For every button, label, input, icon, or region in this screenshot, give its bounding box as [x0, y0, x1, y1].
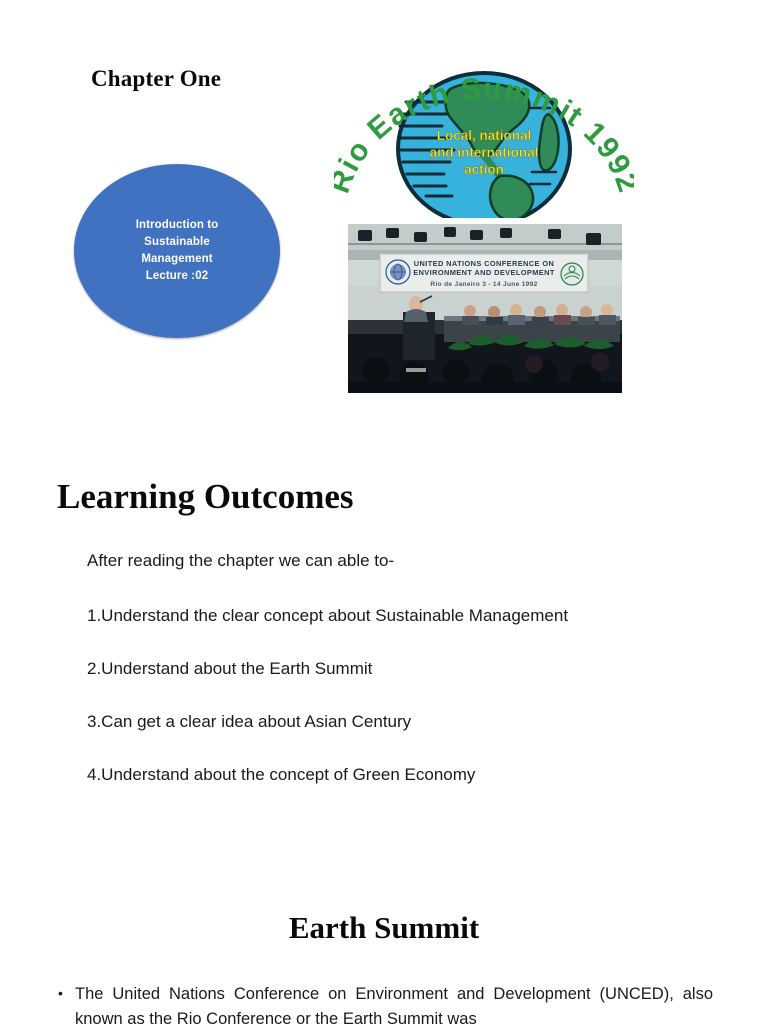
list-item: 2.Understand about the Earth Summit	[87, 657, 727, 710]
rio-earth-summit-logo: Local, national and international action…	[334, 44, 634, 218]
slide-page: Chapter One Introduction to Sustainable …	[0, 0, 768, 1024]
banner-line-1: UNITED NATIONS CONFERENCE ON	[414, 259, 554, 268]
logo-inner-line-1: Local, national	[437, 128, 532, 143]
lecture-line-2: Sustainable	[136, 234, 219, 251]
banner-line-3: Rio de Janeiro 3 - 14 June 1992	[430, 281, 537, 288]
lecture-line-1: Introduction to	[136, 217, 219, 234]
earth-summit-heading: Earth Summit	[0, 910, 768, 946]
banner-line-2: ENVIRONMENT AND DEVELOPMENT	[413, 268, 555, 277]
learning-outcomes-heading: Learning Outcomes	[57, 477, 354, 517]
lecture-line-3: Management	[136, 251, 219, 268]
rio-logo-graphic: Local, national and international action…	[334, 44, 634, 218]
list-item: 4.Understand about the concept of Green …	[87, 763, 727, 816]
lecture-ellipse: Introduction to Sustainable Management L…	[74, 164, 280, 338]
unced-photo-graphic: UNITED NATIONS CONFERENCE ON ENVIRONMENT…	[348, 224, 622, 393]
lecture-line-4: Lecture :02	[136, 268, 219, 285]
logo-inner-line-2: and international	[430, 145, 539, 160]
learning-outcomes-list: 1.Understand the clear concept about Sus…	[87, 604, 727, 816]
learning-outcomes-intro: After reading the chapter we can able to…	[87, 551, 394, 571]
logo-inner-line-3: action	[464, 162, 504, 177]
page-title: Chapter One	[91, 66, 221, 92]
list-item: 1.Understand the clear concept about Sus…	[87, 604, 727, 657]
list-item: 3.Can get a clear idea about Asian Centu…	[87, 710, 727, 763]
lecture-ellipse-text: Introduction to Sustainable Management L…	[136, 217, 219, 285]
unced-conference-photo: UNITED NATIONS CONFERENCE ON ENVIRONMENT…	[348, 224, 622, 393]
